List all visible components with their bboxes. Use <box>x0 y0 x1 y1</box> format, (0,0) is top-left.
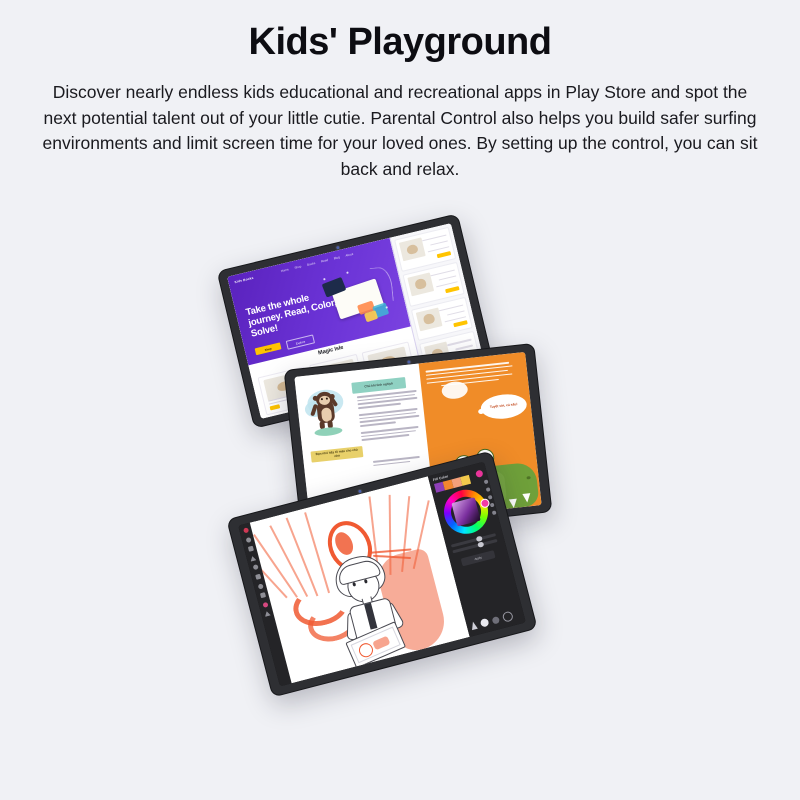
brush-icon[interactable] <box>247 546 253 552</box>
nav-item-blog[interactable]: Blog <box>333 255 340 260</box>
shape-icon[interactable] <box>255 574 261 580</box>
ebook-paragraph-orange <box>426 361 522 391</box>
pen-icon[interactable] <box>249 555 256 561</box>
color-swatch-icon[interactable] <box>262 602 268 608</box>
device-showcase: Kids Books Home Shop Books Read Blog Abo… <box>0 218 800 800</box>
sparkle-icon <box>346 272 348 274</box>
brush-size-row[interactable] <box>470 611 514 632</box>
page-description: Discover nearly endless kids educational… <box>36 80 764 183</box>
hero-illustration <box>317 261 401 329</box>
hero-secondary-cta[interactable]: Explore <box>286 334 315 349</box>
store-item-line <box>438 275 456 281</box>
nav-item-books[interactable]: Books <box>307 261 316 267</box>
sketch-ray <box>304 512 330 593</box>
nav-item-about[interactable]: About <box>345 252 354 258</box>
cursor-icon[interactable] <box>264 611 271 617</box>
palette-icon[interactable] <box>489 503 494 508</box>
speech-bubble: Tuyệt vời, cá sấu! <box>480 392 528 421</box>
color-swatch-yellow[interactable] <box>460 475 471 486</box>
page-header: Kids' Playground Discover nearly endless… <box>0 0 800 183</box>
store-item-buy-button[interactable] <box>445 286 460 293</box>
website-nav-links[interactable]: Home Shop Books Read Blog About <box>280 252 353 273</box>
ebook-ribbon-heading: Bạn nhỏ hãy tô màu cho chú nhé <box>311 446 364 463</box>
undo-icon[interactable] <box>245 537 251 543</box>
page-title: Kids' Playground <box>0 22 800 64</box>
store-item-line <box>447 310 465 316</box>
blend-icon[interactable] <box>485 487 490 492</box>
store-item-buy-button[interactable] <box>437 251 452 258</box>
layers-icon[interactable] <box>260 592 266 598</box>
store-item-line <box>439 304 463 311</box>
store-item-buy-button[interactable] <box>453 320 468 327</box>
nav-item-read[interactable]: Read <box>321 258 329 264</box>
nav-item-shop[interactable]: Shop <box>294 264 302 270</box>
brush-size-outline[interactable] <box>502 611 514 623</box>
product-buy-button[interactable] <box>270 405 281 411</box>
opacity-icon[interactable] <box>483 479 488 484</box>
hero-art-blob-c <box>364 310 378 322</box>
eraser-icon[interactable] <box>252 565 258 571</box>
speech-bubble-secondary <box>441 380 469 400</box>
website-hero: Kids Books Home Shop Books Read Blog Abo… <box>227 238 411 365</box>
settings-icon[interactable] <box>491 510 496 515</box>
pen-tip-icon[interactable] <box>470 621 478 630</box>
crocodile-tooth <box>509 499 518 509</box>
brush-size-medium[interactable] <box>491 616 500 625</box>
drawing-application: Fill Color <box>238 462 526 687</box>
record-icon[interactable] <box>243 527 249 533</box>
front-camera-icon <box>407 360 410 363</box>
active-color-indicator[interactable] <box>475 469 484 478</box>
monkey-eye <box>321 398 323 400</box>
store-item-line <box>430 240 448 246</box>
nav-item-home[interactable]: Home <box>280 267 289 273</box>
crocodile-tooth <box>522 493 531 503</box>
fill-icon[interactable] <box>257 583 263 589</box>
tablet-3-screen[interactable]: Fill Color <box>238 462 526 687</box>
ebook-paragraph <box>373 455 425 468</box>
tablet-drawing-app[interactable]: Fill Color <box>226 450 538 697</box>
monkey-eye <box>326 398 328 400</box>
brush-size-large[interactable] <box>480 618 490 628</box>
sparkle-icon <box>323 278 325 280</box>
ebook-paragraph <box>361 426 422 443</box>
apply-button[interactable]: Apply <box>461 550 496 566</box>
monkey-illustration <box>304 384 349 440</box>
hero-primary-cta[interactable]: Shop <box>255 342 282 355</box>
website-brand: Kids Books <box>234 276 254 284</box>
front-camera-icon <box>358 489 362 493</box>
grass-shape <box>314 426 343 437</box>
